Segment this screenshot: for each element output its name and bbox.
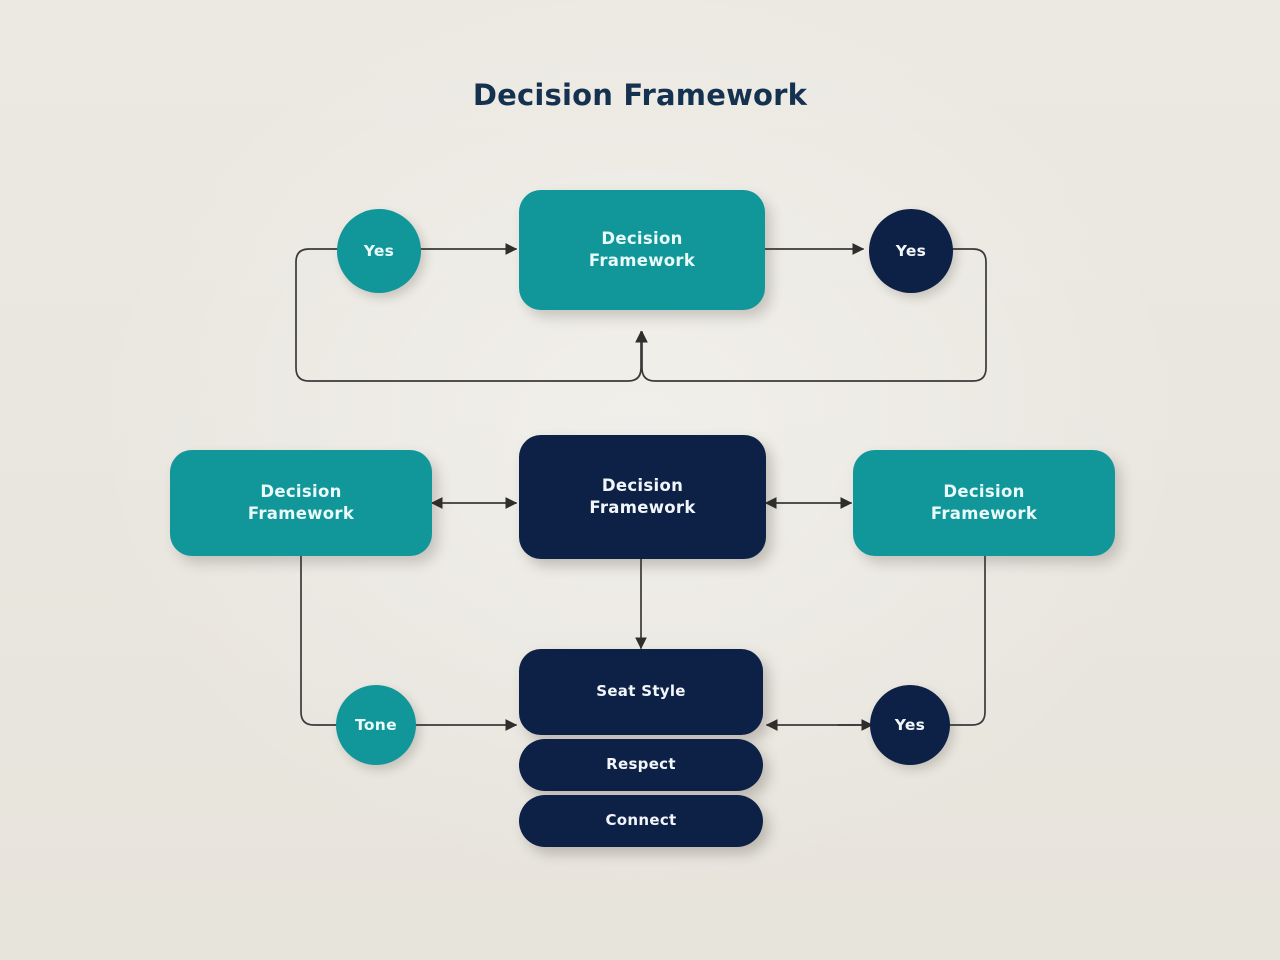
node-bottom-connect[interactable]: Connect bbox=[519, 795, 763, 847]
node-bottom-seat-style[interactable]: Seat Style bbox=[519, 649, 763, 735]
node-top-center-decision-framework[interactable]: Decision Framework bbox=[519, 190, 765, 310]
diagram-canvas: Decision Framework bbox=[0, 0, 1280, 960]
node-top-left-yes[interactable]: Yes bbox=[337, 209, 421, 293]
node-bottom-right-yes[interactable]: Yes bbox=[870, 685, 950, 765]
edge-midright-down-to-rightyes bbox=[946, 556, 985, 725]
node-mid-left-decision-framework[interactable]: Decision Framework bbox=[170, 450, 432, 556]
node-bottom-left-tone[interactable]: Tone bbox=[336, 685, 416, 765]
node-mid-right-decision-framework[interactable]: Decision Framework bbox=[853, 450, 1115, 556]
edge-midleft-down-to-tone bbox=[301, 556, 340, 725]
node-top-right-yes[interactable]: Yes bbox=[869, 209, 953, 293]
node-bottom-respect[interactable]: Respect bbox=[519, 739, 763, 791]
node-mid-center-decision-framework[interactable]: Decision Framework bbox=[519, 435, 766, 559]
